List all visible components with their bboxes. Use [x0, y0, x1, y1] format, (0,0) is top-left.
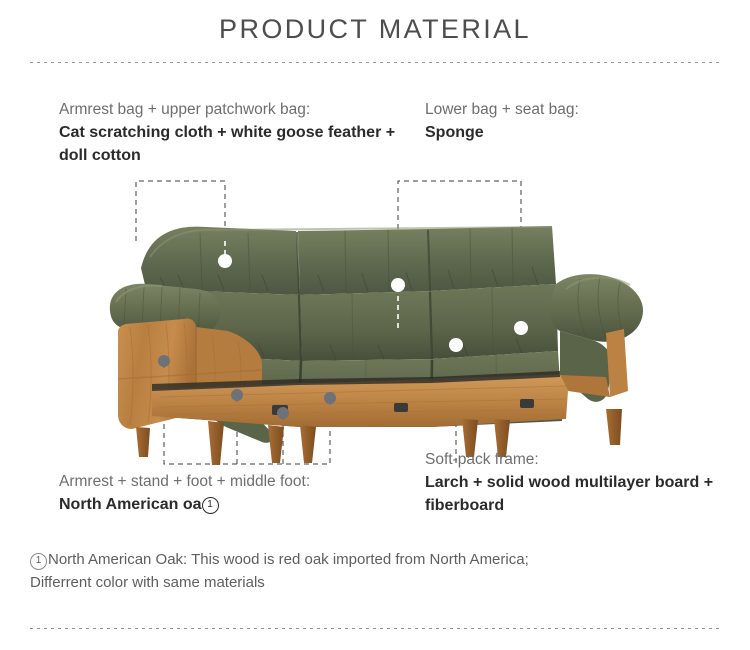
- callout-label: Lower bag + seat bag:: [425, 98, 715, 122]
- footnote-ref-icon: 1: [202, 497, 219, 514]
- front-wood-rail: [152, 371, 568, 427]
- callout-value: North American oa: [59, 496, 202, 513]
- dot-soft-pack-frame: [449, 338, 463, 352]
- callout-value: Sponge: [425, 122, 715, 145]
- footnote-line-1: North American Oak: This wood is red oak…: [48, 551, 529, 568]
- dot-foot-rail: [324, 392, 336, 404]
- callout-label: Armrest bag + upper patchwork bag:: [59, 98, 409, 122]
- page-title: PRODUCT MATERIAL: [0, 14, 750, 45]
- dot-upper-patchwork: [391, 278, 405, 292]
- sofa-illustration: [0, 165, 750, 475]
- footer-divider: [30, 628, 720, 629]
- sofa-graphic: [110, 226, 643, 465]
- footnote-marker-icon: 1: [30, 553, 47, 570]
- callout-label: Soft-pack frame:: [425, 448, 725, 472]
- footnote-line-2: Differrent color with same materials: [30, 574, 265, 591]
- callout-armrest-stand-foot: Armrest + stand + foot + middle foot: No…: [59, 470, 409, 517]
- dot-lower-bag: [514, 321, 528, 335]
- callout-lower-seat-bag: Lower bag + seat bag: Sponge: [425, 98, 715, 145]
- headrest-cushions: [141, 226, 556, 295]
- dot-armrest-bag: [218, 254, 232, 268]
- callout-soft-pack-frame: Soft-pack frame: Larch + solid wood mult…: [425, 448, 725, 517]
- callout-value: Cat scratching cloth + white goose feath…: [59, 122, 409, 167]
- callout-label: Armrest + stand + foot + middle foot:: [59, 470, 409, 494]
- dot-stand-wood: [231, 389, 243, 401]
- dot-middle-foot: [277, 407, 289, 419]
- callout-value-wrap: North American oa1: [59, 494, 409, 517]
- callout-value: Larch + solid wood multilayer board + fi…: [425, 472, 725, 517]
- callout-armrest-upper-patchwork: Armrest bag + upper patchwork bag: Cat s…: [59, 98, 409, 167]
- header-divider: [30, 62, 720, 63]
- product-material-infographic: PRODUCT MATERIAL: [0, 0, 750, 650]
- footnote: 1North American Oak: This wood is red oa…: [30, 548, 720, 595]
- dot-armrest-wood: [158, 355, 170, 367]
